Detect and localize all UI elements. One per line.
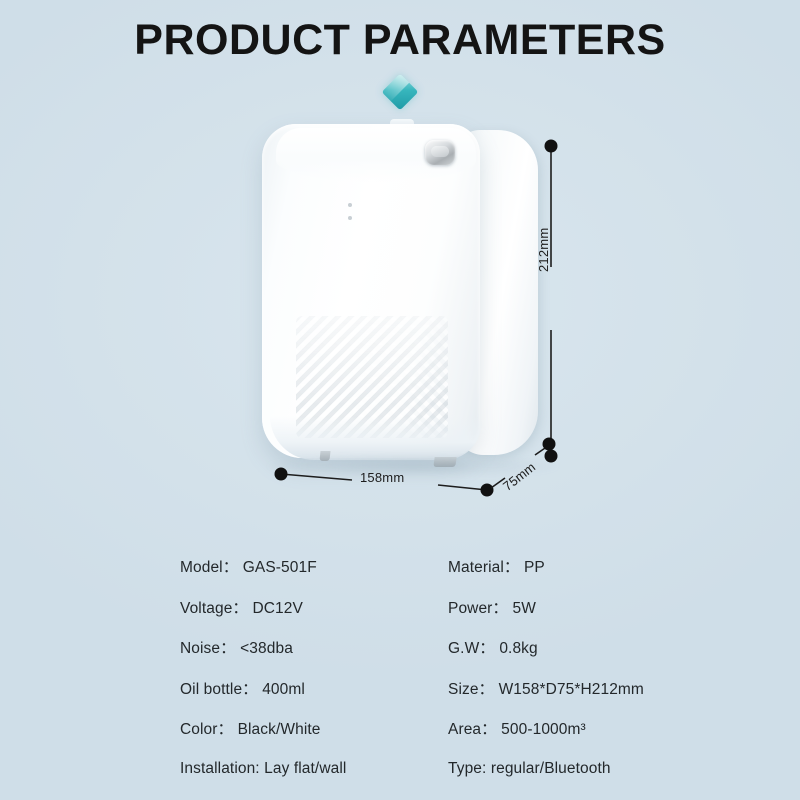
spec-value: Lay flat/wall (264, 760, 346, 777)
spec-type: Type: regular/Bluetooth (448, 760, 788, 778)
spec-value: 5W (512, 600, 535, 617)
spec-row: Color： Black/White Area： 500-1000m³ (180, 708, 800, 749)
spec-key: Installation: (180, 760, 260, 777)
spec-value: W158*D75*H212mm (499, 681, 644, 698)
spec-row: Voltage： DC12V Power： 5W (180, 587, 800, 628)
aroma-diffuser-device (258, 124, 538, 469)
device-bottom-shading (270, 416, 482, 460)
spec-gross-weight: G.W： 0.8kg (448, 636, 788, 658)
spec-material: Material： PP (448, 555, 788, 577)
spec-voltage: Voltage： DC12V (180, 596, 448, 618)
product-parameters-page: PRODUCT PARAMETERS (0, 0, 800, 800)
spec-value: PP (524, 559, 545, 576)
spec-value: Black/White (238, 721, 321, 738)
spec-area: Area： 500-1000m³ (448, 717, 788, 739)
device-ground-shadow (268, 455, 558, 477)
spec-key: Model： (180, 559, 238, 576)
spec-key: Oil bottle： (180, 681, 258, 698)
spec-value: regular/Bluetooth (491, 760, 611, 777)
spec-value: <38dba (240, 640, 293, 657)
spec-key: Type: (448, 760, 486, 777)
led-indicator-icon (348, 216, 352, 220)
diamond-mist-icon (382, 74, 419, 111)
spec-key: G.W： (448, 640, 495, 657)
spec-row: Noise： <38dba G.W： 0.8kg (180, 627, 800, 668)
spec-value: 0.8kg (499, 640, 537, 657)
spec-value: 400ml (262, 681, 305, 698)
nozzle-button-icon (425, 140, 455, 165)
spec-key: Voltage： (180, 600, 248, 617)
spec-installation: Installation: Lay flat/wall (180, 760, 448, 778)
led-indicator-icon (348, 203, 352, 207)
spec-key: Color： (180, 721, 233, 738)
device-front-face (262, 124, 480, 458)
spec-model: Model： GAS-501F (180, 555, 448, 577)
spec-value: GAS-501F (243, 559, 317, 576)
spec-key: Noise： (180, 640, 236, 657)
spec-size: Size： W158*D75*H212mm (448, 677, 788, 699)
spec-key: Material： (448, 559, 520, 576)
spec-noise: Noise： <38dba (180, 636, 448, 658)
spec-color: Color： Black/White (180, 717, 448, 739)
spec-value: 500-1000m³ (501, 721, 586, 738)
product-image (0, 0, 800, 520)
spec-value: DC12V (252, 600, 302, 617)
spec-row: Model： GAS-501F Material： PP (180, 546, 800, 587)
spec-row: Installation: Lay flat/wall Type: regula… (180, 749, 800, 790)
spec-key: Power： (448, 600, 508, 617)
spec-row: Oil bottle： 400ml Size： W158*D75*H212mm (180, 668, 800, 709)
specifications-table: Model： GAS-501F Material： PP Voltage： DC… (180, 546, 800, 789)
spec-oil-bottle: Oil bottle： 400ml (180, 677, 448, 699)
spec-power: Power： 5W (448, 596, 788, 618)
spec-key: Size： (448, 681, 494, 698)
spec-key: Area： (448, 721, 497, 738)
